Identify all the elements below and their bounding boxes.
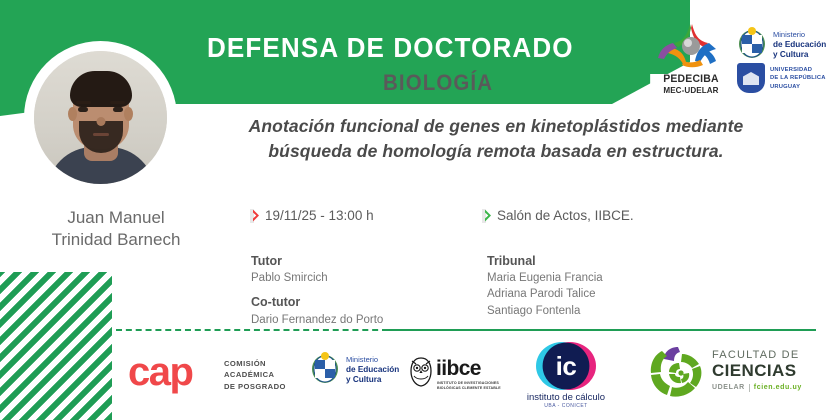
candidate-name-line-1: Juan Manuel — [24, 207, 208, 229]
portrait-brow-left — [76, 101, 91, 104]
page-title: DEFENSA DE DOCTORADO — [207, 32, 635, 64]
tribunal-member: Maria Eugenia Francia — [487, 270, 737, 286]
facultad-line-2: CIENCIAS — [712, 362, 802, 381]
mec-logo-header: Ministerio de Educación y Cultura — [737, 27, 837, 61]
tribunal-member: Adriana Parodi Talice — [487, 286, 737, 302]
page-subtitle: BIOLOGÍA — [383, 70, 653, 96]
tutor-label: Tutor — [251, 252, 461, 270]
portrait-brow-right — [110, 101, 125, 104]
ic-name: instituto de cálculo — [516, 392, 616, 403]
pedeciba-star-icon — [656, 24, 726, 76]
tribunal-member: Santiago Fontenla — [487, 303, 737, 319]
spiral-shell-icon — [648, 345, 706, 397]
mec-line-2: de Educación — [773, 40, 826, 51]
udelar-line-3: URUGUAY — [770, 83, 826, 91]
portrait-nose — [96, 117, 105, 126]
thesis-title: Anotación funcional de genes en kinetopl… — [190, 114, 802, 163]
facultad-udelar: UDELAR — [712, 384, 745, 391]
owl-icon — [408, 356, 434, 388]
facultad-de-ciencias-logo: FACULTAD DE CIENCIAS UDELAR fcien.edu.uy — [648, 345, 828, 399]
portrait-eye-left — [78, 107, 88, 112]
roles-tribunal-column: Tribunal Maria Eugenia Francia Adriana P… — [487, 252, 737, 319]
event-location: Salón de Actos, IIBCE. — [482, 208, 634, 223]
diagonal-stripes-decoration — [0, 272, 112, 420]
portrait-mouth — [93, 133, 109, 136]
cap-line-1: COMISIÓN — [224, 358, 286, 369]
udelar-line-2: DE LA REPÚBLICA — [770, 74, 826, 82]
mec-footer-line-1: Ministerio — [346, 355, 399, 365]
ic-subtitle: UBA - CONICET — [516, 403, 616, 409]
event-location-text: Salón de Actos, IIBCE. — [497, 208, 634, 223]
roles-tutor-column: Tutor Pablo Smircich Co-tutor Dario Fern… — [251, 252, 461, 328]
mec-footer-line-2: de Educación — [346, 365, 399, 376]
divider-dashed — [116, 329, 388, 331]
mec-line-1: Ministerio — [773, 30, 826, 40]
chevron-right-icon — [482, 209, 491, 223]
event-date-text: 19/11/25 - 13:00 h — [265, 208, 374, 223]
portrait-ear-right — [124, 107, 133, 121]
facultad-meta-row: UDELAR fcien.edu.uy — [712, 384, 802, 392]
avatar — [29, 46, 172, 189]
tribunal-label: Tribunal — [487, 252, 737, 270]
iibce-wordmark: iibce — [436, 358, 481, 379]
chevron-right-icon — [250, 209, 259, 223]
poster-root: DEFENSA DE DOCTORADO BIOLOGÍA Anotación … — [0, 0, 840, 420]
candidate-name-line-2: Trinidad Barnech — [24, 229, 208, 251]
ic-wordmark: ic — [540, 340, 592, 392]
pedeciba-subtitle: MEC-UDELAR — [650, 86, 732, 95]
cap-line-2: ACADÉMICA — [224, 369, 286, 380]
udelar-badge-icon — [737, 63, 765, 93]
tutor-name: Pablo Smircich — [251, 270, 461, 286]
uruguay-coat-of-arms-icon — [310, 352, 340, 384]
iibce-subtitle: INSTITUTO DE INVESTIGACIONES BIOLÓGICAS … — [437, 381, 515, 390]
udelar-wordmark: UNIVERSIDAD DE LA REPÚBLICA URUGUAY — [770, 66, 826, 91]
portrait-ear-left — [68, 107, 77, 121]
udelar-line-1: UNIVERSIDAD — [770, 66, 826, 74]
facultad-wordmark: FACULTAD DE CIENCIAS UDELAR fcien.edu.uy — [712, 349, 802, 392]
instituto-de-calculo-logo: ic instituto de cálculo UBA - CONICET — [518, 340, 614, 402]
portrait-eye-right — [113, 107, 123, 112]
candidate-name: Juan Manuel Trinidad Barnech — [24, 207, 208, 252]
mec-footer-line-3: y Cultura — [346, 375, 399, 386]
facultad-url[interactable]: fcien.edu.uy — [754, 384, 802, 391]
cotutor-label: Co-tutor — [251, 293, 461, 311]
cotutor-name: Dario Fernandez do Porto — [251, 312, 461, 328]
thesis-title-line-1: Anotación funcional de genes en kinetopl… — [190, 114, 802, 139]
cap-subtitle: COMISIÓN ACADÉMICA DE POSGRADO — [224, 358, 286, 392]
cap-line-3: DE POSGRADO — [224, 381, 286, 392]
pedeciba-logo: PEDECIBA MEC-UDELAR — [648, 24, 734, 96]
mec-line-3: y Cultura — [773, 50, 826, 61]
event-meta: 19/11/25 - 13:00 h Salón de Actos, IIBCE… — [250, 208, 810, 230]
pedeciba-name: PEDECIBA — [650, 74, 732, 86]
pedeciba-label: PEDECIBA MEC-UDELAR — [650, 74, 732, 94]
event-date: 19/11/25 - 13:00 h — [250, 208, 374, 223]
divider — [749, 384, 750, 392]
iibce-logo: iibce INSTITUTO DE INVESTIGACIONES BIOLÓ… — [408, 356, 518, 394]
thesis-title-line-2: búsqueda de homología remota basada en e… — [190, 139, 802, 164]
divider-solid — [388, 329, 816, 331]
uruguay-coat-of-arms-icon — [737, 27, 767, 59]
cap-logo: cap COMISIÓN ACADÉMICA DE POSGRADO — [128, 352, 308, 396]
mec-wordmark-header: Ministerio de Educación y Cultura — [773, 30, 826, 61]
mec-wordmark-footer: Ministerio de Educación y Cultura — [346, 355, 399, 386]
portrait-photo — [34, 51, 167, 184]
cap-wordmark: cap — [128, 352, 192, 392]
udelar-logo-header: UNIVERSIDAD DE LA REPÚBLICA URUGUAY — [737, 62, 837, 94]
